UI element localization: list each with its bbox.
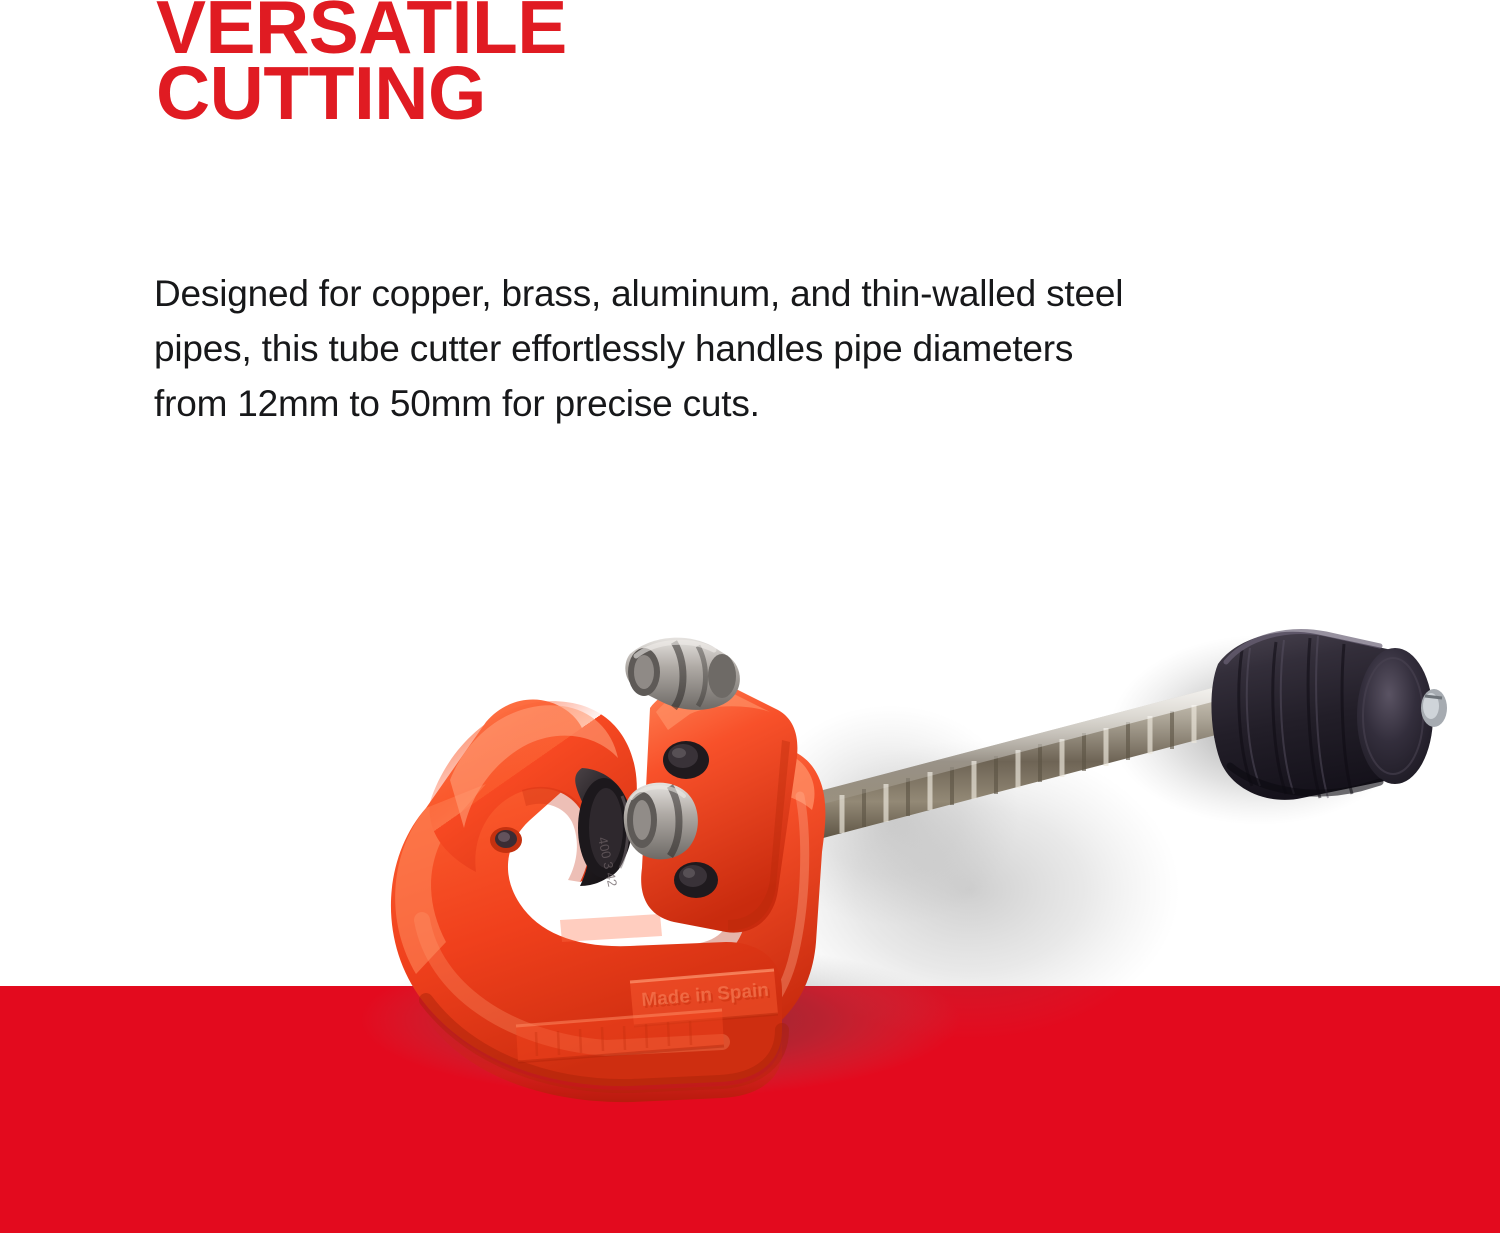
knob-pin: [1421, 689, 1447, 727]
adjustment-knob: [1211, 632, 1447, 800]
pivot-pin-upper: [663, 741, 709, 779]
roller-lower: [624, 783, 698, 860]
roller-upper: [625, 638, 740, 710]
product-image-tube-cutter: Made in Spain Made in Spain: [330, 590, 1450, 1120]
banner-stage: VERSATILE CUTTING Designed for copper, b…: [0, 0, 1500, 1233]
page-title: VERSATILE CUTTING: [156, 0, 567, 126]
roller-slider-block: [624, 638, 798, 933]
jaw-axle-hole: [490, 827, 522, 853]
pivot-pin-lower: [674, 862, 718, 898]
body-description: Designed for copper, brass, aluminum, an…: [154, 266, 1154, 431]
